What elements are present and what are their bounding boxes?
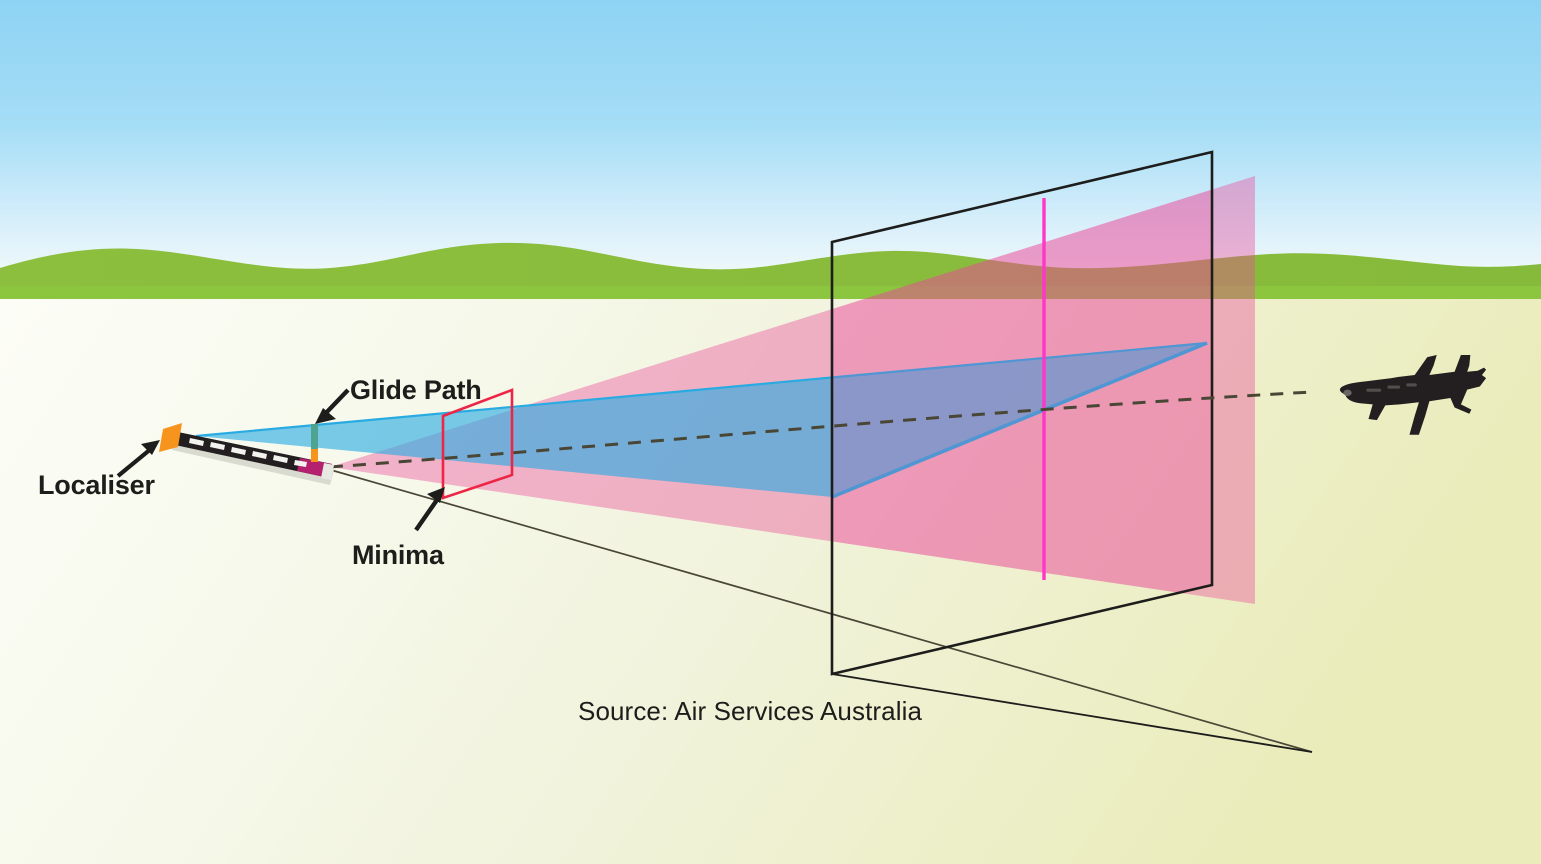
label-glide-path: Glide Path — [350, 375, 482, 406]
source-caption: Source: Air Services Australia — [578, 696, 922, 727]
label-localiser: Localiser — [38, 470, 155, 501]
ils-diagram-canvas: Localiser Glide Path Minima Source: Air … — [0, 0, 1541, 864]
hills-front-band — [0, 286, 1541, 300]
diagram-svg — [0, 0, 1541, 864]
label-minima: Minima — [352, 540, 444, 571]
glide-path-antenna-marker — [311, 424, 318, 462]
